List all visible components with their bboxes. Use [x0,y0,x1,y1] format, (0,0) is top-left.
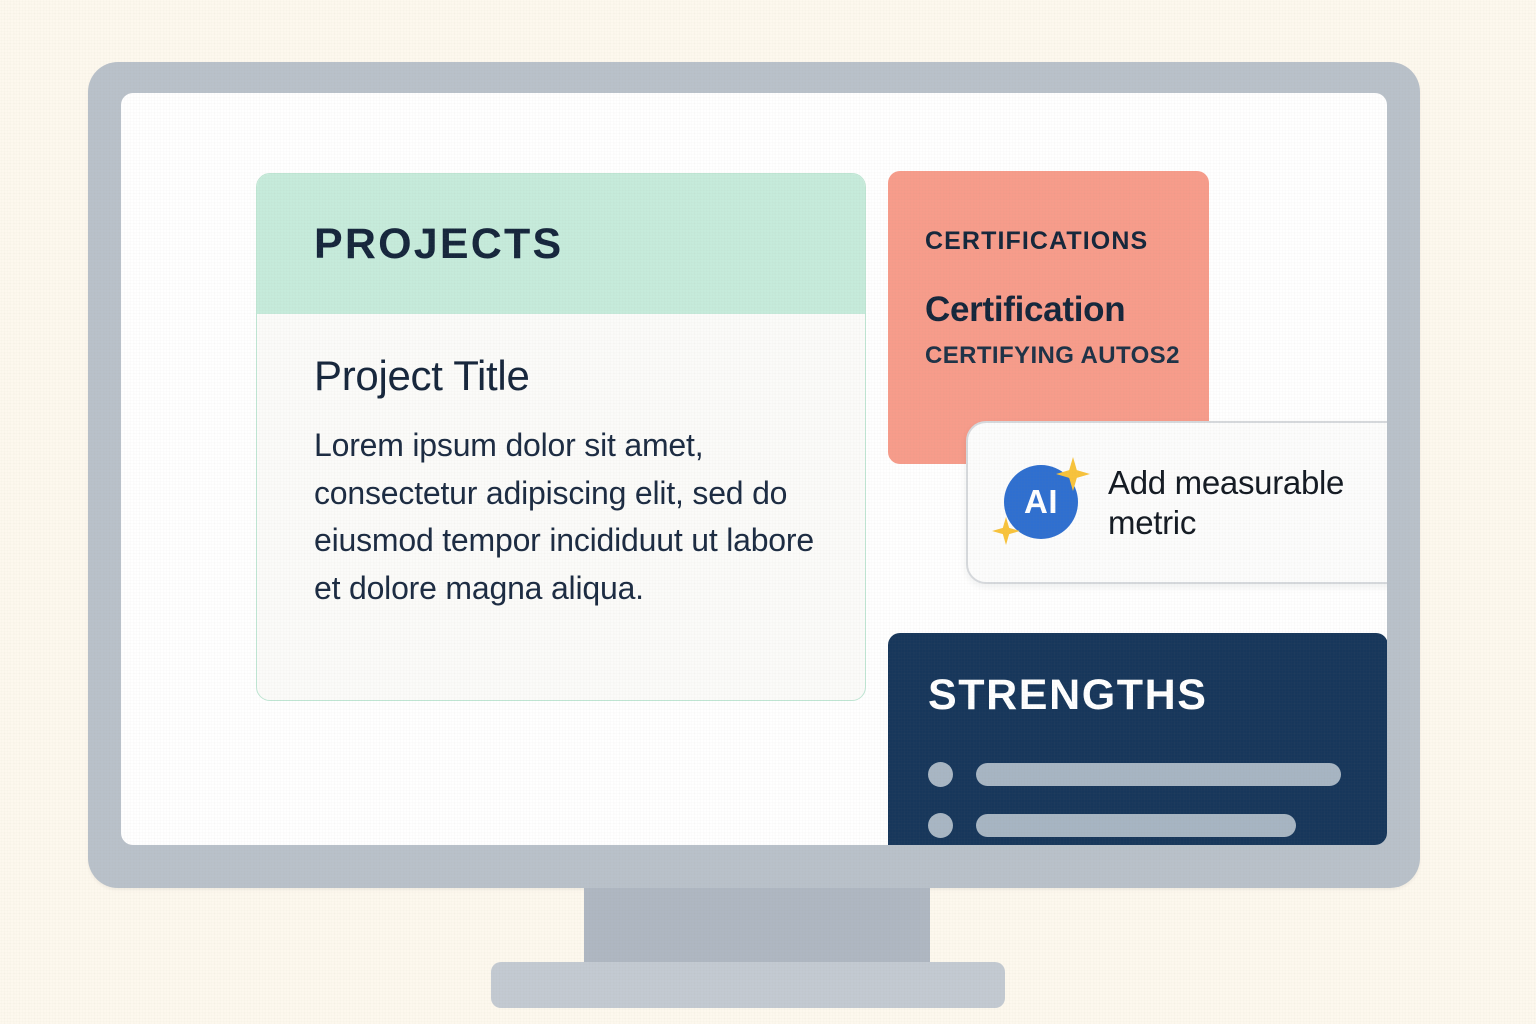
certification-issuer: CERTIFYING AUTOS2 [925,342,1209,370]
sparkle-icon [992,517,1020,545]
projects-header-label: PROJECTS [314,220,563,269]
sparkle-icon [1056,457,1090,491]
bullet-icon [928,762,953,787]
projects-card-header: PROJECTS [257,174,865,314]
monitor-screen: PROJECTS Project Title Lorem ipsum dolor… [121,93,1387,845]
projects-card-body: Project Title Lorem ipsum dolor sit amet… [257,314,865,613]
certifications-header-label: CERTIFICATIONS [925,227,1209,256]
ai-suggestion-text: Add measurable metric [1108,463,1387,542]
certification-name: Certification [925,290,1209,330]
strengths-placeholder-list [928,762,1387,845]
project-title: Project Title [314,352,825,400]
list-item [928,813,1387,838]
placeholder-bar [976,814,1296,837]
bullet-icon [928,813,953,838]
monitor-frame: PROJECTS Project Title Lorem ipsum dolor… [88,62,1420,888]
project-description: Lorem ipsum dolor sit amet, consectetur … [314,422,825,613]
projects-card[interactable]: PROJECTS Project Title Lorem ipsum dolor… [256,173,866,701]
placeholder-bar [976,763,1341,786]
ai-suggestion-tooltip[interactable]: AI Add measurable metric [966,421,1387,584]
monitor-stand-neck [584,888,930,968]
ai-sparkle-badge: AI [998,459,1086,547]
list-item [928,762,1387,787]
strengths-card[interactable]: STRENGTHS [888,633,1387,845]
strengths-title: STRENGTHS [928,671,1387,720]
monitor-stand-base [491,962,1005,1008]
